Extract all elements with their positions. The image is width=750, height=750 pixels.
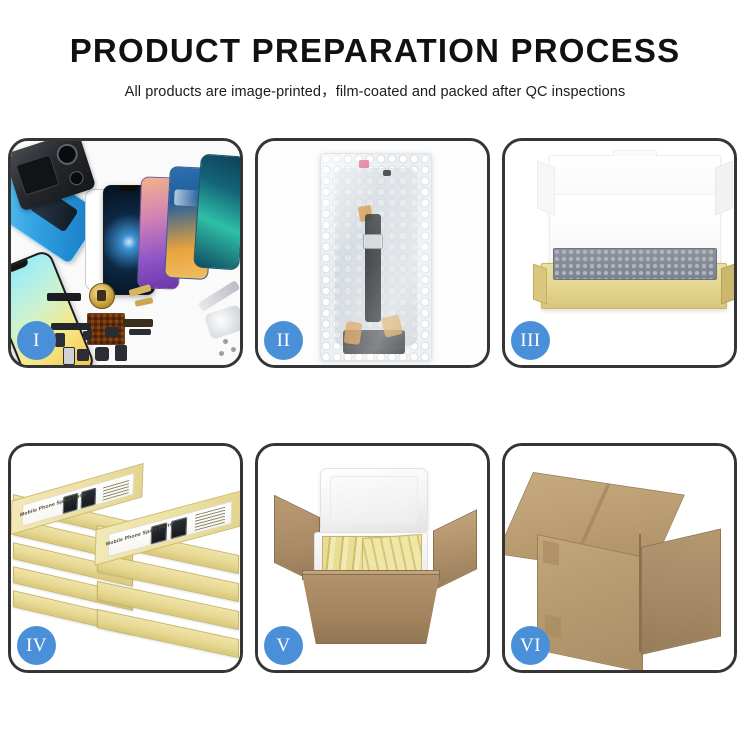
- step-badge-6: VI: [511, 626, 550, 665]
- step-badge-4: IV: [17, 626, 56, 665]
- notch: [120, 186, 138, 191]
- process-step-5: V: [255, 443, 490, 673]
- gold-contact-2: [344, 321, 363, 345]
- part-bar-gold-2: [135, 297, 154, 307]
- kraft-tray-base: [541, 263, 727, 309]
- page-title: PRODUCT PREPARATION PROCESS: [0, 34, 750, 69]
- process-step-2: II: [255, 138, 490, 368]
- notch: [11, 259, 29, 273]
- header: PRODUCT PREPARATION PROCESS All products…: [0, 0, 750, 101]
- carton-tape-top: [543, 540, 559, 565]
- flex-cable-4: [129, 329, 151, 335]
- label-phone-thumb-4: [171, 517, 188, 539]
- page-subtitle: All products are image-printed，film-coat…: [0, 80, 750, 101]
- battery: [16, 154, 60, 196]
- process-step-3: III: [502, 138, 737, 368]
- small-part-3: [95, 347, 109, 361]
- small-part-1: [63, 347, 75, 365]
- phone-teal-curved: [193, 154, 240, 271]
- camera-lens-secondary: [68, 169, 86, 187]
- lid-right-flap: [715, 160, 733, 215]
- lid-left-flap: [537, 160, 555, 215]
- speaker-coil-part: [89, 283, 115, 309]
- carton-front-face: [302, 574, 440, 644]
- bubble-wrap-pouch: [320, 153, 432, 361]
- carton-vertical-edge: [639, 534, 641, 652]
- screw-2: [231, 347, 236, 352]
- flex-cable-1: [51, 323, 91, 330]
- product-preparation-infographic: PRODUCT PREPARATION PROCESS All products…: [0, 0, 750, 750]
- connector-dot: [383, 170, 391, 176]
- process-step-4: Mobile Phone Spare Parts Mo: [8, 443, 243, 673]
- part-bar-1: [47, 293, 81, 301]
- tray-right-face: [721, 263, 734, 304]
- tray-left-face: [533, 263, 547, 304]
- lid-top-face: [550, 156, 720, 195]
- carton-side-face: [641, 529, 721, 655]
- step-badge-1: I: [17, 321, 56, 360]
- flex-cable-3: [123, 319, 153, 327]
- pink-tag: [359, 160, 369, 168]
- process-step-1: I: [8, 138, 243, 368]
- styrofoam-lid: [320, 468, 428, 534]
- step-badge-5: V: [264, 626, 303, 665]
- tool-accessory: [204, 304, 240, 340]
- label-spec-lines-2: [195, 507, 226, 531]
- small-part-5: [105, 327, 119, 337]
- camera-lens: [54, 141, 80, 167]
- step-badge-3: III: [511, 321, 550, 360]
- styrofoam-lid-inner: [330, 476, 418, 524]
- small-part-2: [77, 349, 89, 361]
- grey-foam-padding: [553, 248, 717, 280]
- carton-tape-bottom: [545, 614, 561, 637]
- small-part-6: [83, 331, 92, 340]
- small-part-4: [115, 345, 127, 361]
- label-spec-lines-1: [103, 478, 130, 501]
- flex-cable-2: [55, 333, 65, 347]
- screw-1: [223, 339, 228, 344]
- process-step-grid: I II: [8, 138, 742, 673]
- process-step-6: VI: [502, 443, 737, 673]
- flex-cable-main: [365, 214, 381, 322]
- screw-3: [219, 351, 224, 356]
- step-badge-2: II: [264, 321, 303, 360]
- driver-ic-chip: [363, 234, 383, 249]
